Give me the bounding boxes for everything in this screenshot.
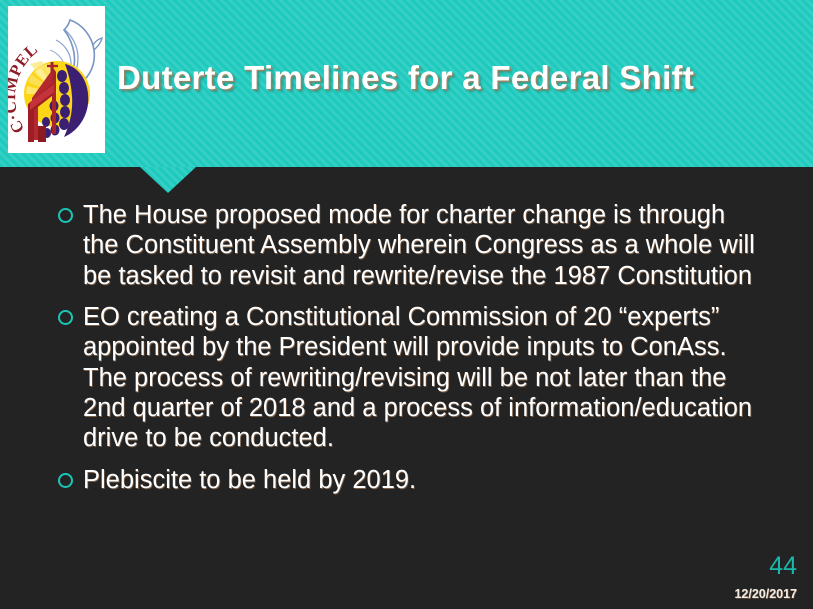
bullet-text: The House proposed mode for charter chan… [83, 200, 758, 291]
bullet-circle-icon [58, 473, 73, 488]
presentation-slide: C·CIMPEL Duterte Timelines for a Federal… [0, 0, 813, 609]
bullet-circle-icon [58, 310, 73, 325]
bullet-item: The House proposed mode for charter chan… [58, 200, 758, 291]
bullet-text: Plebiscite to be held by 2019. [83, 465, 758, 495]
bullet-circle-icon [58, 208, 73, 223]
bullet-text: EO creating a Constitutional Commission … [83, 302, 758, 454]
organization-logo: C·CIMPEL [8, 6, 105, 153]
bullet-item: Plebiscite to be held by 2019. [58, 465, 758, 495]
slide-page-number: 44 [769, 554, 797, 579]
header-pointer-triangle [140, 167, 196, 193]
slide-body: The House proposed mode for charter chan… [58, 200, 758, 506]
slide-title: Duterte Timelines for a Federal Shift [117, 60, 807, 96]
cimpel-logo-icon: C·CIMPEL [8, 6, 105, 153]
bullet-item: EO creating a Constitutional Commission … [58, 302, 758, 454]
slide-footer-date: 12/20/2017 [734, 588, 797, 601]
